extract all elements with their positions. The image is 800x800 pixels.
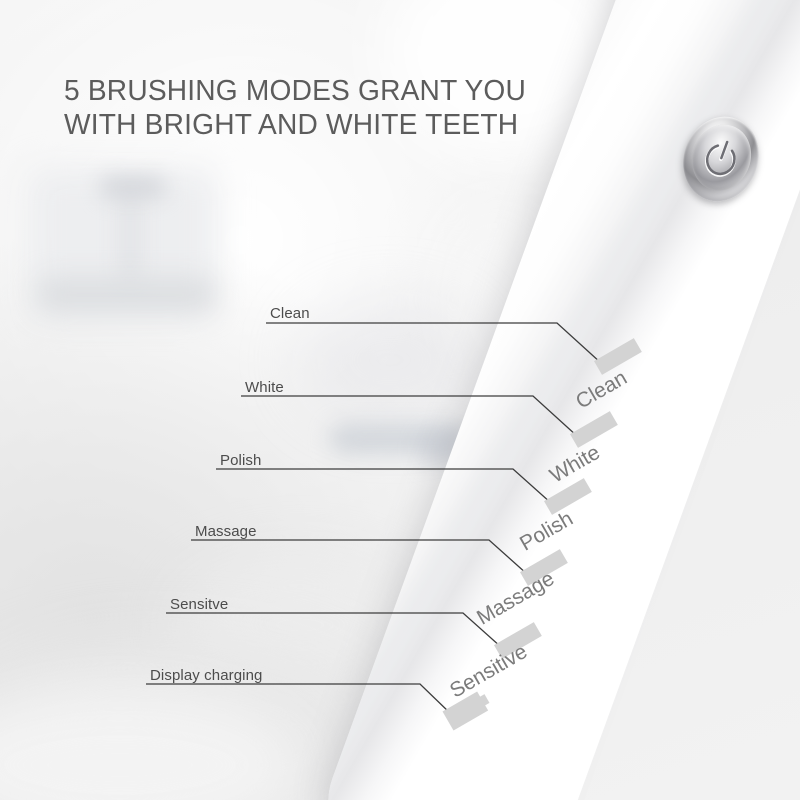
leader-line-charging — [146, 684, 451, 714]
callout-label-polish: Polish — [220, 452, 261, 469]
callout-label-clean: Clean — [270, 305, 310, 322]
headline-line-2: WITH BRIGHT AND WHITE TEETH — [64, 108, 526, 142]
leader-line-massage — [191, 540, 527, 574]
callout-label-white: White — [245, 379, 284, 396]
leader-line-sensitve — [166, 613, 501, 647]
callout-label-massage: Massage — [195, 523, 257, 540]
headline-line-1: 5 BRUSHING MODES GRANT YOU — [64, 74, 526, 108]
callout-label-display-charging: Display charging — [150, 667, 263, 684]
leader-line-polish — [216, 469, 551, 503]
leader-line-white — [241, 396, 577, 436]
callout-label-sensitve: Sensitve — [170, 596, 228, 613]
leader-line-clean — [266, 323, 601, 363]
page-title: 5 BRUSHING MODES GRANT YOU WITH BRIGHT A… — [64, 74, 526, 142]
product-feature-image: Clean White Polish Massage Sensitve Disp… — [0, 0, 800, 800]
